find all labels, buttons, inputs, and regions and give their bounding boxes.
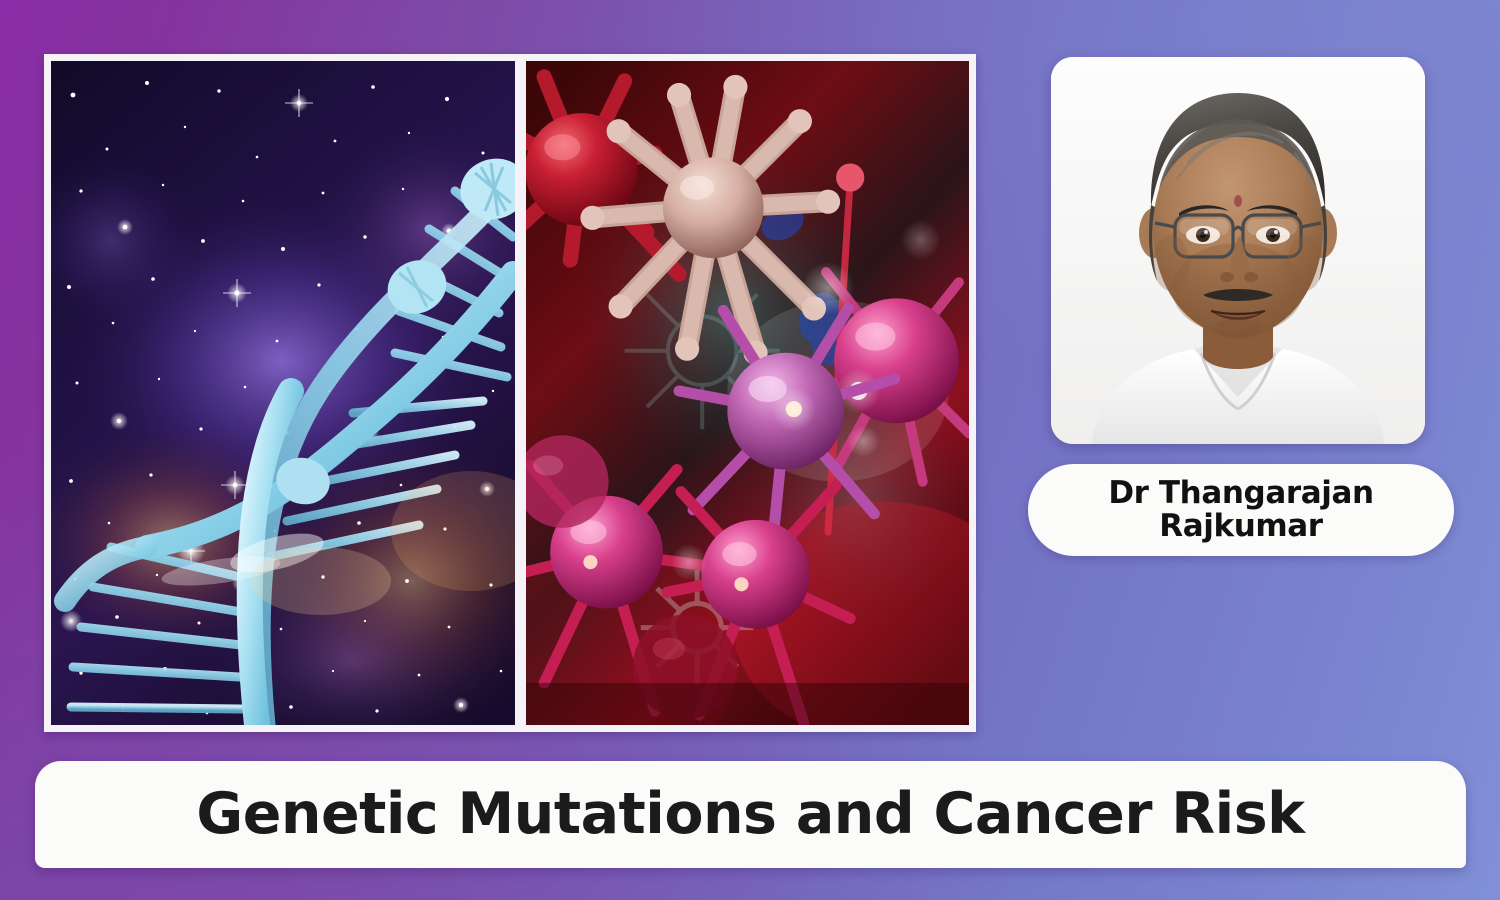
article-hero-card: Dr Thangarajan Rajkumar Genetic Mutation…	[0, 0, 1500, 900]
hero-image-inner	[51, 61, 969, 725]
speaker-photo	[1051, 57, 1425, 444]
dna-illustration	[51, 61, 515, 725]
hero-image-frame	[44, 54, 976, 732]
speaker-portrait-card	[1051, 57, 1425, 444]
speaker-name-badge: Dr Thangarajan Rajkumar	[1028, 464, 1454, 556]
headline-card: Genetic Mutations and Cancer Risk	[35, 761, 1466, 868]
virus-illustration	[526, 61, 969, 725]
page-title: Genetic Mutations and Cancer Risk	[196, 786, 1304, 843]
dna-panel	[51, 61, 515, 725]
speaker-name: Dr Thangarajan Rajkumar	[1108, 477, 1373, 544]
virus-panel	[526, 61, 969, 725]
